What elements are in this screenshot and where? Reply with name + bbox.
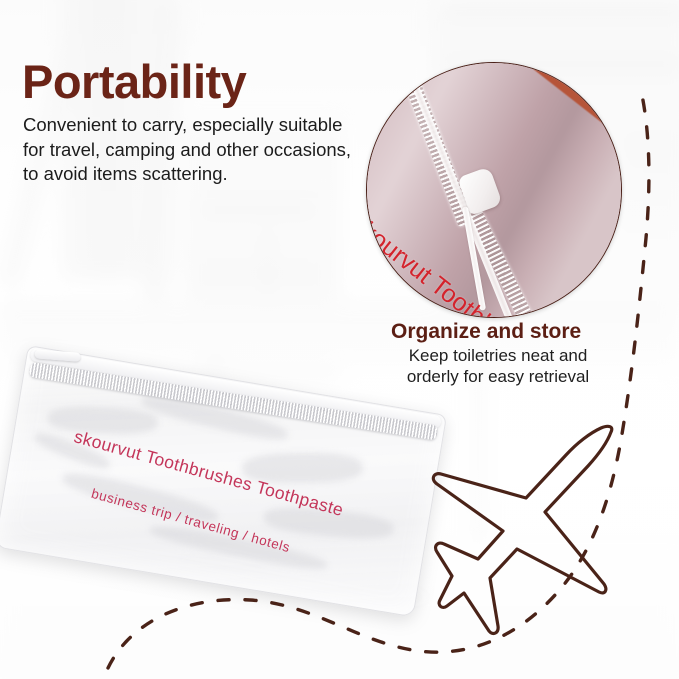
pouch-crinkle (47, 405, 158, 436)
feature-description: Convenient to carry, especially suitable… (23, 113, 368, 187)
inset-caption-title: Organize and store (391, 320, 581, 344)
inset-caption-body: Keep toiletries neat and orderly for eas… (393, 346, 603, 387)
zoom-inset-circle: skourvut Toothbr (366, 62, 622, 318)
page-title: Portability (22, 58, 246, 105)
product-feature-image: Portability Convenient to carry, especia… (0, 0, 679, 679)
